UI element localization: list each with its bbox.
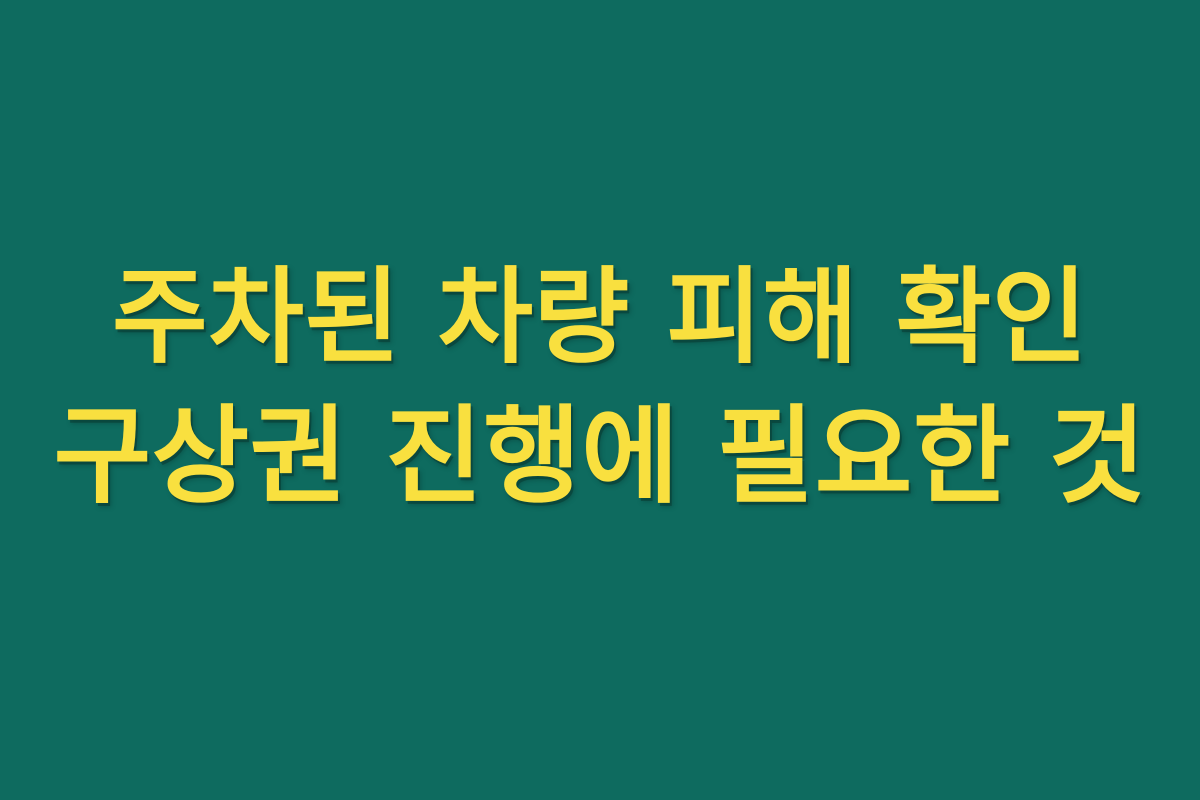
headline-line-2: 구상권 진행에 필요한 것 — [0, 387, 1200, 527]
headline-line-1: 주차된 차량 피해 확인 — [0, 249, 1200, 386]
text-thumbnail-card: 주차된 차량 피해 확인 구상권 진행에 필요한 것 — [0, 0, 1200, 800]
headline-block: 주차된 차량 피해 확인 구상권 진행에 필요한 것 — [0, 249, 1200, 526]
